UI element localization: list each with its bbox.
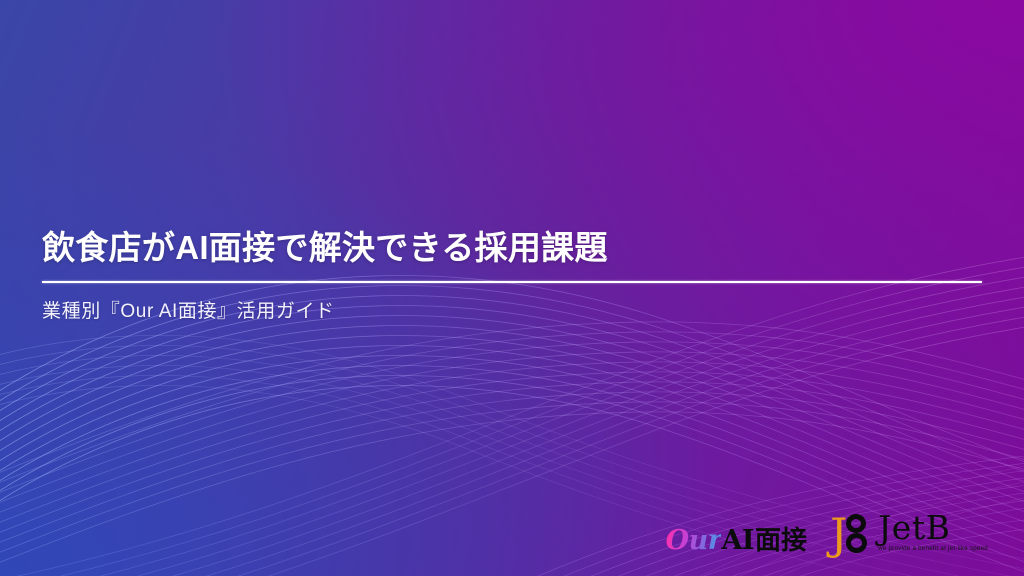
jetb-mark-ring-top-icon: [846, 514, 866, 533]
our-ai-logo-ai-text: AI: [721, 525, 754, 556]
our-ai-mensetsu-logo: Our AI 面接: [666, 520, 807, 554]
jetb-mark-ring-bottom-icon: [846, 533, 867, 553]
jetb-mark-j-letter: J: [830, 515, 847, 555]
our-ai-logo-mensetsu-text: 面接: [755, 520, 807, 557]
title-block: 飲食店がAI面接で解決できる採用課題 業種別『Our AI面接』活用ガイド: [42, 228, 982, 325]
page-subtitle: 業種別『Our AI面接』活用ガイド: [42, 299, 982, 325]
jetb-logo-mark-icon: J: [829, 513, 869, 554]
jetb-logo-name: JetB: [878, 511, 950, 544]
jetb-logo-wordmark: JetB we provide a benefit at jet-like sp…: [878, 511, 988, 554]
title-slide: 飲食店がAI面接で解決できる採用課題 業種別『Our AI面接』活用ガイド Ou…: [0, 0, 1024, 576]
jetb-logo: J JetB we provide a benefit at jet-like …: [829, 511, 988, 554]
title-divider: [42, 281, 982, 283]
logo-bar: Our AI 面接 J JetB we provide a benefit at…: [666, 511, 988, 554]
page-title: 飲食店がAI面接で解決できる採用課題: [42, 228, 982, 268]
our-ai-logo-our-text: Our: [666, 525, 722, 556]
jetb-logo-tagline: we provide a benefit at jet-like speed: [878, 545, 988, 553]
